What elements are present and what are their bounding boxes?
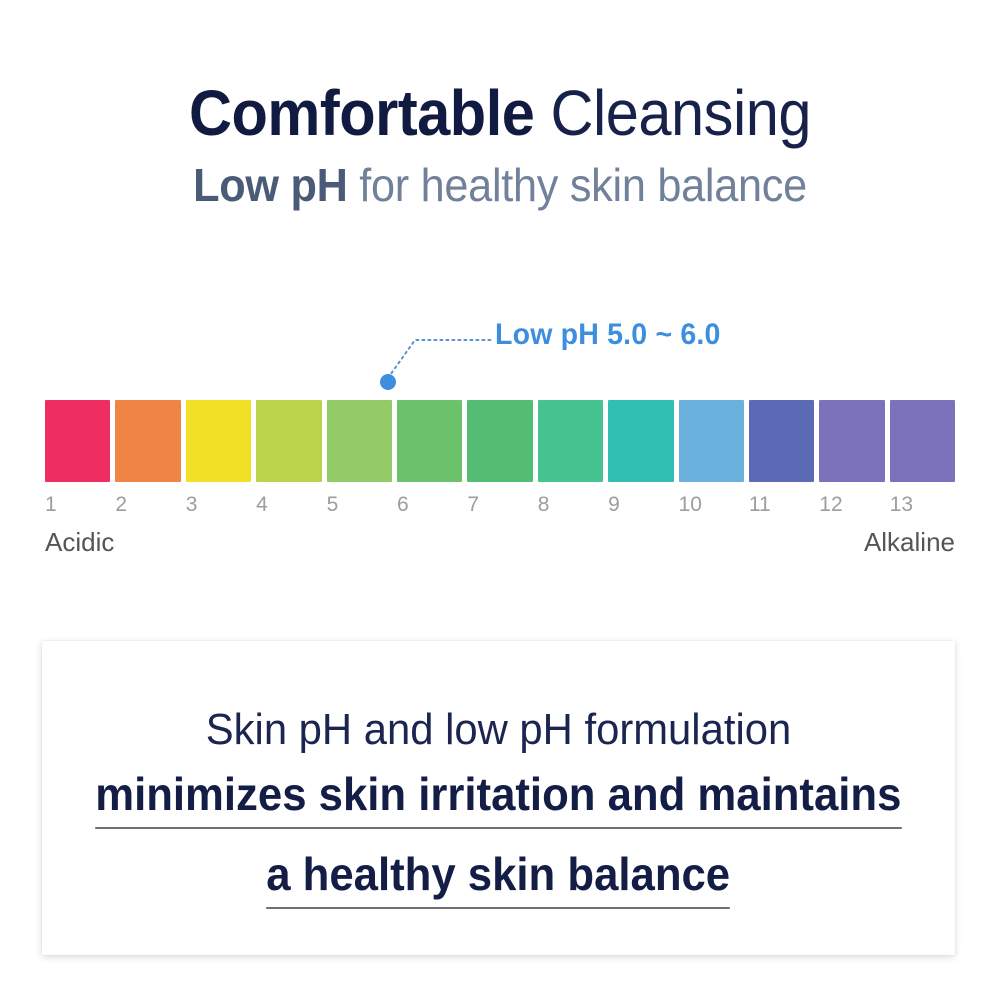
page-subtitle: Low pH for healthy skin balance xyxy=(30,156,970,214)
ph-swatch-5 xyxy=(327,400,392,482)
ph-swatch-1 xyxy=(45,400,110,482)
page-title-strong: Comfortable xyxy=(189,77,534,149)
ph-swatch-7 xyxy=(467,400,532,482)
statement-card-content: Skin pH and low pH formulation minimizes… xyxy=(42,703,955,909)
statement-line-3-wrap: a healthy skin balance xyxy=(42,843,955,909)
ph-tick-label-5: 5 xyxy=(327,492,392,518)
page-subtitle-strong: Low pH xyxy=(193,159,347,211)
ph-swatch-10 xyxy=(679,400,744,482)
page-title: Comfortable Cleansing xyxy=(35,74,965,152)
statement-line-1: Skin pH and low pH formulation xyxy=(65,703,932,757)
ph-swatch-12 xyxy=(819,400,884,482)
callout-label: Low pH 5.0 ~ 6.0 xyxy=(495,318,721,352)
ph-tick-label-12: 12 xyxy=(819,492,884,518)
ph-swatch-3 xyxy=(186,400,251,482)
ph-swatch-6 xyxy=(397,400,462,482)
ph-tick-label-9: 9 xyxy=(608,492,673,518)
ph-tick-label-8: 8 xyxy=(538,492,603,518)
alkaline-label: Alkaline xyxy=(864,526,955,558)
ph-endcap-labels: Acidic Alkaline xyxy=(45,526,955,558)
statement-line-2: minimizes skin irritation and maintains xyxy=(95,763,901,829)
statement-card: Skin pH and low pH formulation minimizes… xyxy=(42,641,955,955)
ph-swatch-2 xyxy=(115,400,180,482)
page-subtitle-light: for healthy skin balance xyxy=(348,159,807,211)
ph-tick-label-3: 3 xyxy=(186,492,251,518)
ph-swatch-row xyxy=(45,400,955,482)
page-title-light: Cleansing xyxy=(534,77,811,149)
ph-tick-label-13: 13 xyxy=(890,492,955,518)
ph-swatch-9 xyxy=(608,400,673,482)
ph-swatch-13 xyxy=(890,400,955,482)
ph-tick-label-1: 1 xyxy=(45,492,110,518)
ph-tick-label-6: 6 xyxy=(397,492,462,518)
ph-swatch-8 xyxy=(538,400,603,482)
ph-tick-row: 12345678910111213 xyxy=(45,492,955,518)
ph-swatch-11 xyxy=(749,400,814,482)
acidic-label: Acidic xyxy=(45,526,114,558)
ph-tick-label-10: 10 xyxy=(679,492,744,518)
ph-callout: Low pH 5.0 ~ 6.0 xyxy=(45,300,955,400)
statement-line-2-wrap: minimizes skin irritation and maintains xyxy=(42,763,955,829)
ph-tick-label-4: 4 xyxy=(256,492,321,518)
ph-swatch-4 xyxy=(256,400,321,482)
callout-marker-dot xyxy=(380,374,396,390)
statement-line-3: a healthy skin balance xyxy=(267,843,731,909)
ph-tick-label-2: 2 xyxy=(115,492,180,518)
page-root: Comfortable Cleansing Low pH for healthy… xyxy=(0,0,1000,1000)
callout-leader-icon xyxy=(45,300,955,400)
heading-block: Comfortable Cleansing Low pH for healthy… xyxy=(0,74,1000,214)
ph-tick-label-7: 7 xyxy=(467,492,532,518)
ph-tick-label-11: 11 xyxy=(749,492,814,518)
